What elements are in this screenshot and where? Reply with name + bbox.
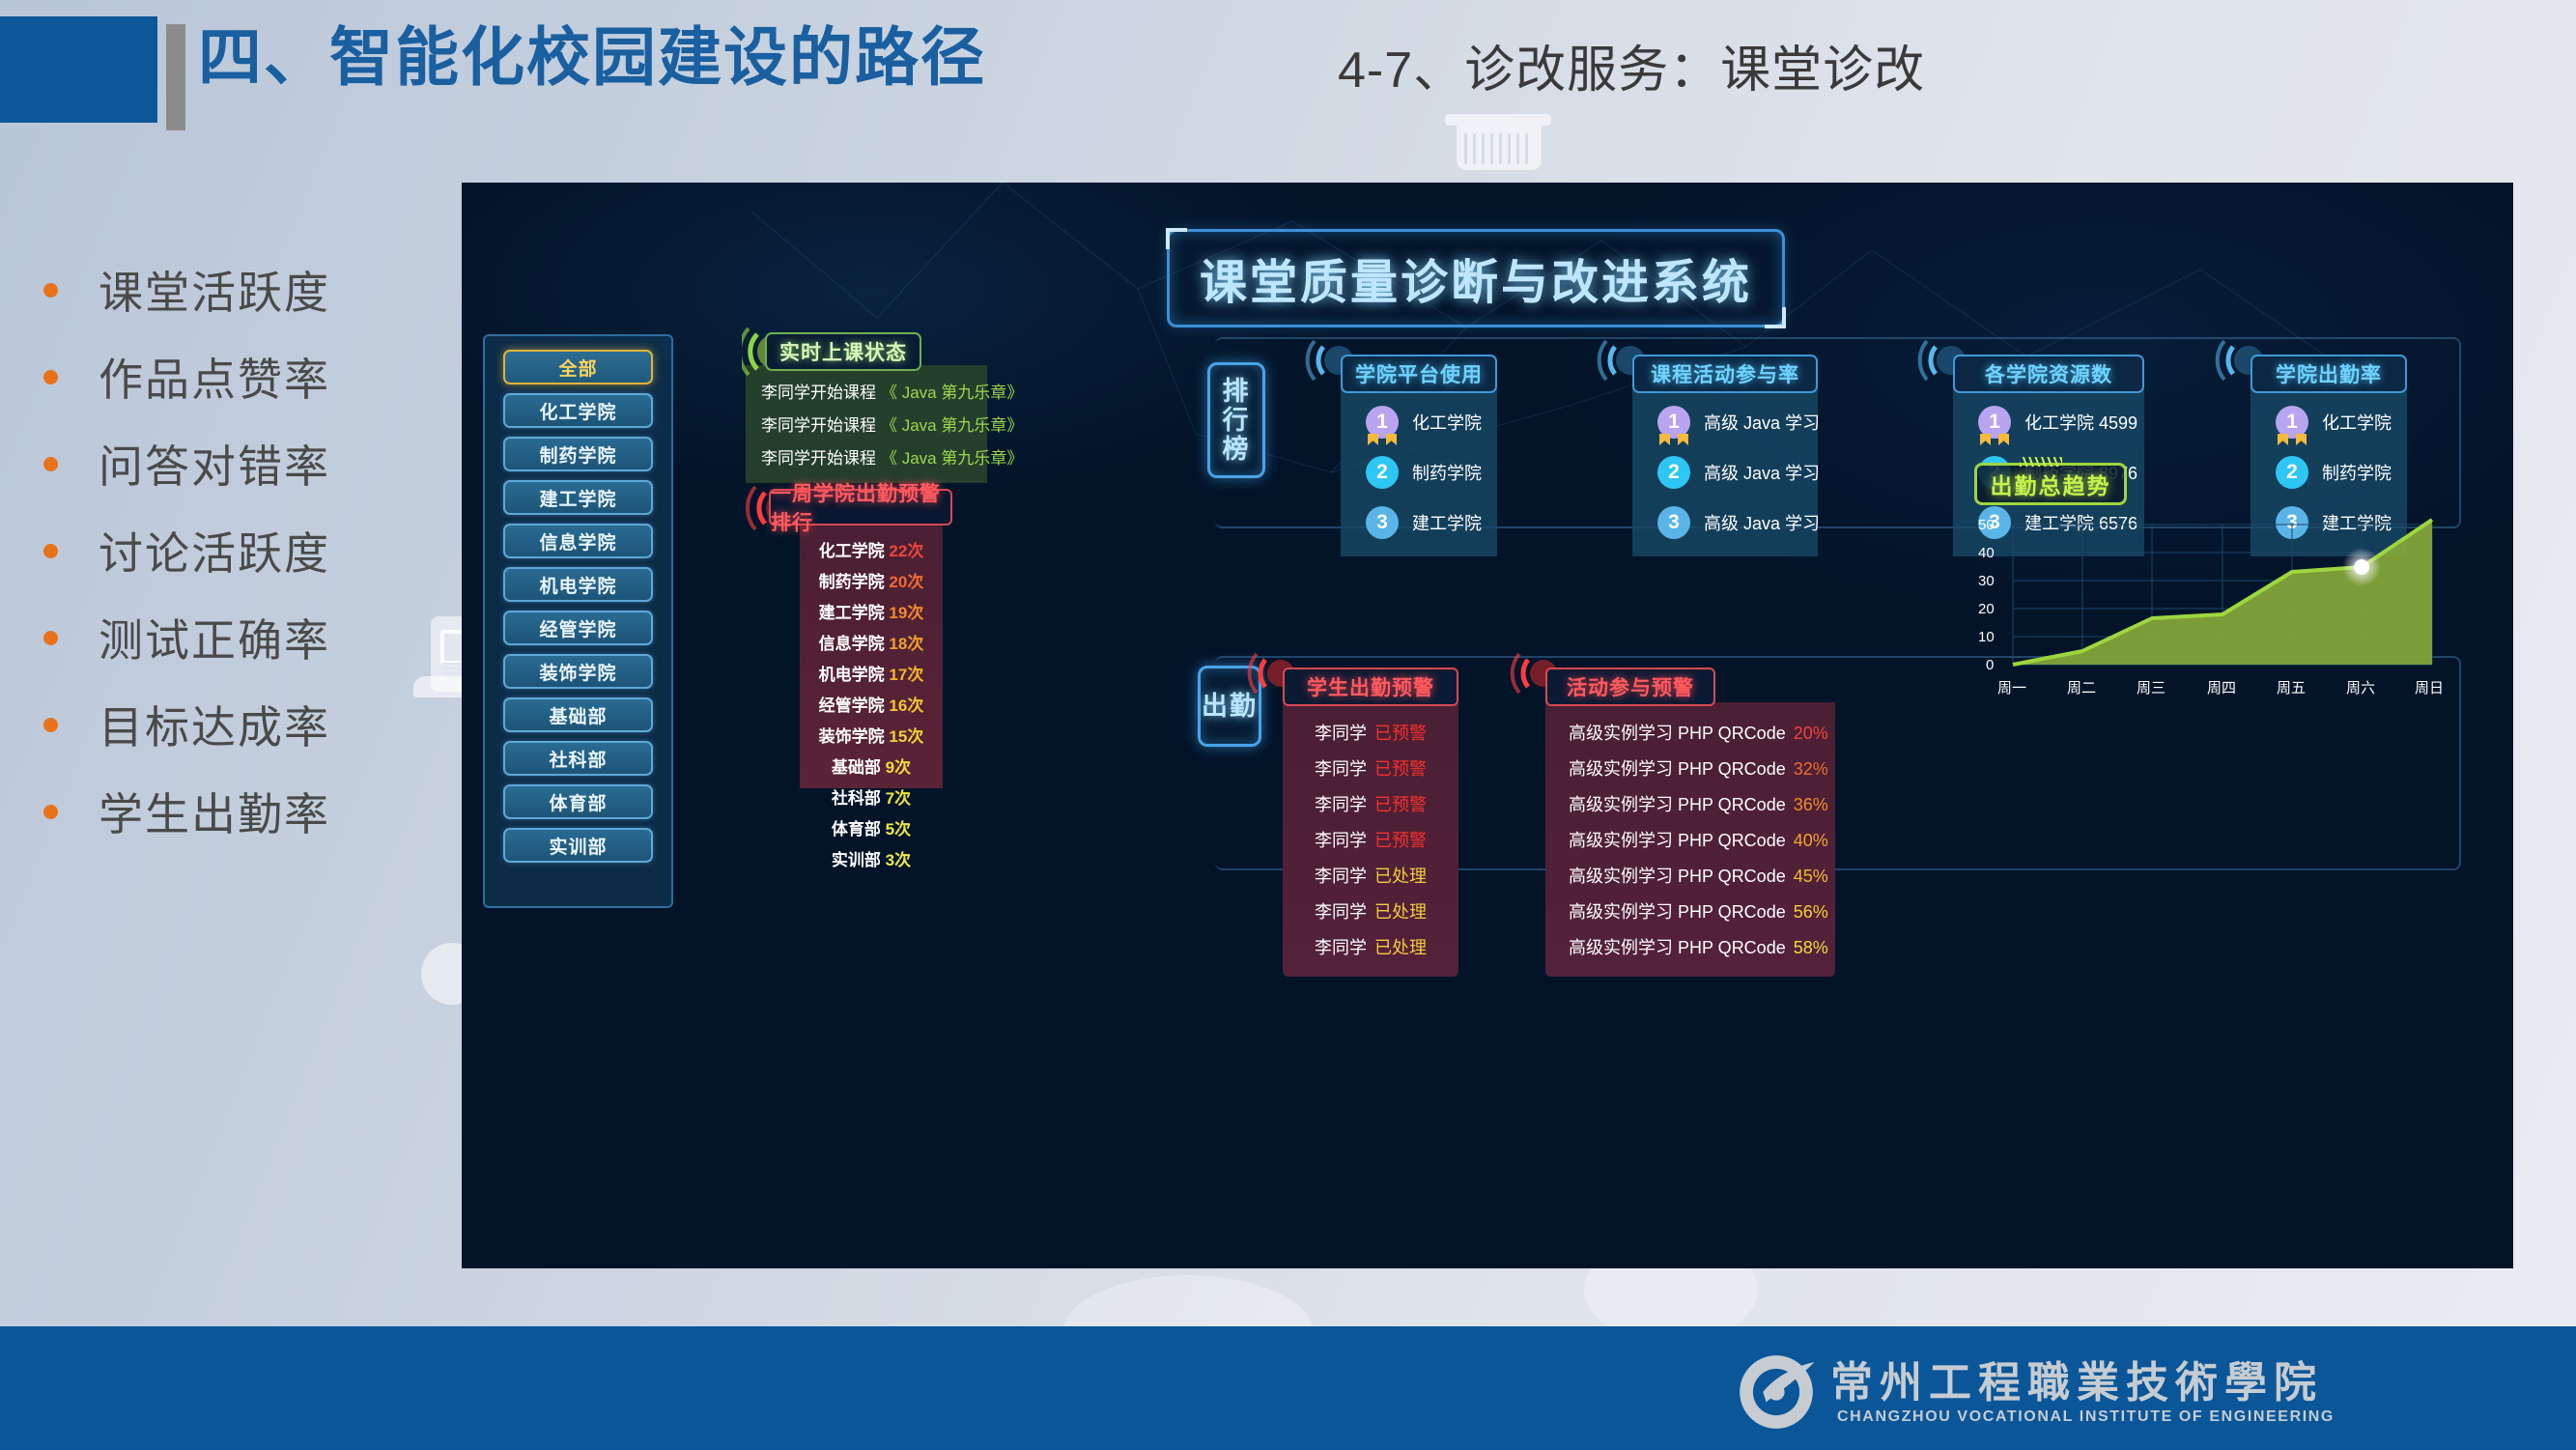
activity-warning-title-label: 活动参与预警 (1567, 672, 1694, 701)
medal-rank-2-icon: 2 (1657, 456, 1690, 489)
list-item: 高级实例学习 PHP QRCode45% (1569, 863, 1835, 888)
y-tick-label: 30 (1978, 573, 1995, 589)
college-name: 基础部 (832, 758, 881, 777)
rank-card-title-label: 各学院资源数 (1985, 359, 2112, 388)
list-item: 高级实例学习 PHP QRCode56% (1569, 898, 1835, 924)
list-item: 学生出勤率 (43, 768, 430, 855)
activity-name: 高级实例学习 PHP QRCode (1569, 831, 1786, 850)
live-row-who: 李同学开始课程 (761, 416, 876, 435)
list-item: 问答对错率 (43, 420, 430, 507)
activity-warning-list: 高级实例学习 PHP QRCode20% 高级实例学习 PHP QRCode32… (1545, 702, 1835, 977)
list-item: 1化工学院 4599 (1953, 406, 2144, 439)
list-item: 体育部 5次 (800, 815, 943, 839)
list-item: 基础部 9次 (800, 753, 943, 778)
participation-percent: 56% (1794, 902, 1828, 922)
activity-name: 高级实例学习 PHP QRCode (1569, 902, 1786, 922)
y-tick-label: 20 (1978, 601, 1995, 617)
status-badge: 已处理 (1374, 867, 1427, 886)
warning-count: 19次 (889, 604, 923, 622)
participation-percent: 36% (1794, 795, 1828, 814)
rank-card-course-activity: 课程活动参与率 1高级 Java 学习 2高级 Java 学习 3高级 Java… (1632, 355, 1818, 556)
status-badge: 已预警 (1374, 831, 1427, 850)
list-item: 2制药学院 (1341, 456, 1497, 489)
rank-label: 高级 Java 学习 (1704, 510, 1820, 535)
list-item: 制药学院 20次 (800, 568, 943, 592)
student-name: 李同学 (1315, 759, 1367, 779)
status-badge: 已预警 (1374, 759, 1427, 779)
header-accent-block (0, 16, 157, 123)
warning-count: 16次 (889, 697, 923, 715)
list-item: 2高级 Java 学习 (1632, 456, 1818, 489)
student-warning-list: 李同学已预警 李同学已预警 李同学已预警 李同学已预警 李同学已处理 李同学已处… (1283, 702, 1458, 977)
list-item: 机电学院 17次 (800, 661, 943, 685)
status-badge: 已处理 (1374, 902, 1427, 922)
sidebar-item-mechatronics[interactable]: 机电学院 (503, 567, 653, 602)
rank-label: 化工学院 (2322, 410, 2392, 435)
college-name: 信息学院 (819, 635, 885, 653)
dashboard-title: 课堂质量诊断与改进系统 (1167, 229, 1785, 327)
participation-percent: 58% (1794, 938, 1828, 957)
sidebar-item-chemical[interactable]: 化工学院 (503, 393, 653, 428)
list-item: 信息学院 18次 (800, 630, 943, 654)
x-tick-label: 周五 (2277, 677, 2306, 697)
weekly-rank-title: 一周学院出勤预警排行 (769, 489, 952, 526)
list-item: 高级实例学习 PHP QRCode36% (1569, 791, 1835, 816)
rank-card-title-label: 学院平台使用 (1355, 359, 1483, 388)
list-item: 李同学已预警 (1283, 827, 1458, 852)
list-item: 李同学已处理 (1283, 898, 1458, 924)
live-row-course: 《 Java 第九乐章》 (881, 384, 1023, 402)
college-name: 机电学院 (819, 666, 885, 684)
activity-participation-warning-card: 活动参与预警 高级实例学习 PHP QRCode20% 高级实例学习 PHP Q… (1545, 668, 1835, 977)
list-item: 建工学院 19次 (800, 599, 943, 623)
watermark-cart-handle (1445, 114, 1551, 126)
medal-rank-3-icon: 3 (1366, 506, 1399, 539)
list-item: 经管学院 16次 (800, 692, 943, 716)
list-item: 高级实例学习 PHP QRCode58% (1569, 934, 1835, 959)
y-tick-label: 0 (1986, 657, 1994, 673)
institute-name-cn: 常州工程職業技術學院 (1830, 1348, 2323, 1409)
bullet-label: 作品点赞率 (99, 345, 330, 409)
rank-number: 1 (1989, 411, 2000, 434)
list-item: 1化工学院 (1341, 406, 1497, 439)
participation-percent: 40% (1794, 831, 1828, 850)
x-tick-label: 周日 (2415, 677, 2444, 697)
rank-label: 高级 Java 学习 (1704, 410, 1820, 435)
warning-count: 7次 (886, 789, 911, 808)
rank-section-badge: 排行榜 (1207, 362, 1265, 478)
participation-percent: 32% (1794, 759, 1828, 779)
weekly-rank-title-label: 一周学院出勤预警排行 (771, 478, 950, 536)
bullet-label: 问答对错率 (99, 432, 330, 496)
weekly-attendance-warning-panel: 一周学院出勤预警排行 化工学院 22次 制药学院 20次 建工学院 19次 信息… (769, 489, 952, 788)
sidebar-item-label: 建工学院 (539, 485, 616, 511)
status-badge: 已预警 (1374, 795, 1427, 814)
status-badge: 已处理 (1374, 938, 1427, 957)
medal-rank-1-icon: 1 (1366, 406, 1399, 439)
rank-number: 3 (1376, 511, 1388, 534)
warning-count: 5次 (886, 820, 911, 839)
rank-card-title: 课程活动参与率 (1632, 355, 1818, 393)
list-item: 目标达成率 (43, 681, 430, 768)
list-item: 装饰学院 15次 (800, 723, 943, 747)
sidebar-item-information[interactable]: 信息学院 (503, 524, 653, 558)
corner-bracket-icon (1166, 228, 1187, 249)
rank-number: 2 (1376, 461, 1388, 484)
sidebar-item-decoration[interactable]: 装饰学院 (503, 654, 653, 689)
medal-rank-2-icon: 2 (1366, 456, 1399, 489)
metrics-bullet-list: 课堂活跃度 作品点赞率 问答对错率 讨论活跃度 测试正确率 目标达成率 学生出勤… (43, 246, 430, 855)
rank-label: 化工学院 (1412, 410, 1482, 435)
college-name: 建工学院 (819, 604, 885, 622)
rank-number: 3 (1668, 511, 1680, 534)
sidebar-item-all[interactable]: 全部 (503, 350, 653, 384)
participation-percent: 20% (1794, 724, 1828, 743)
warning-count: 17次 (889, 666, 923, 684)
student-name: 李同学 (1315, 831, 1367, 850)
warning-count: 15次 (889, 727, 923, 746)
rank-card-title-label: 学院出勤率 (2276, 359, 2382, 388)
x-tick-label: 周二 (2067, 677, 2096, 697)
medal-rank-1-icon: 1 (1657, 406, 1690, 439)
college-name: 体育部 (832, 820, 881, 839)
college-name: 社科部 (832, 789, 881, 808)
page-title: 四、智能化校园建设的路径 (198, 19, 986, 96)
list-item: 李同学已处理 (1283, 934, 1458, 959)
x-tick-label: 周一 (1997, 677, 2026, 697)
student-name: 李同学 (1315, 724, 1367, 743)
sidebar-item-label: 机电学院 (539, 572, 616, 598)
rank-number: 2 (1668, 461, 1680, 484)
list-item: 李同学已预警 (1283, 791, 1458, 816)
rank-label: 制药学院 (1412, 460, 1482, 485)
student-warning-title-label: 学生出勤预警 (1307, 672, 1434, 701)
activity-name: 高级实例学习 PHP QRCode (1569, 795, 1786, 814)
activity-name: 高级实例学习 PHP QRCode (1569, 759, 1786, 779)
header-accent-bar (166, 24, 185, 130)
list-item: 高级实例学习 PHP QRCode32% (1569, 755, 1835, 781)
warning-count: 9次 (886, 758, 911, 777)
list-item: 李同学开始课程《 Java 第九乐章》 (761, 412, 972, 436)
list-item: 李同学已预警 (1283, 720, 1458, 745)
college-name: 装饰学院 (819, 727, 885, 746)
student-name: 李同学 (1315, 867, 1367, 886)
list-item: 课堂活跃度 (43, 246, 430, 333)
rank-number: 1 (1668, 411, 1680, 434)
sidebar-item-label: 装饰学院 (539, 659, 616, 685)
corner-bracket-icon (1765, 307, 1786, 328)
bullet-dot-icon (43, 457, 58, 471)
sidebar-item-label: 基础部 (549, 702, 607, 728)
trend-chart-title: 出勤总趋势 (1974, 463, 2127, 505)
list-item: 3高级 Java 学习 (1632, 506, 1818, 539)
y-tick-label: 40 (1978, 545, 1995, 561)
student-name: 李同学 (1315, 795, 1367, 814)
warning-count: 3次 (886, 851, 911, 869)
x-tick-label: 周三 (2137, 677, 2166, 697)
live-class-status-panel: 实时上课状态 李同学开始课程《 Java 第九乐章》 李同学开始课程《 Java… (746, 332, 987, 483)
list-item: 李同学已处理 (1283, 863, 1458, 888)
live-status-title: 实时上课状态 (765, 332, 921, 371)
page-subtitle: 4-7、诊改服务：课堂诊改 (1338, 29, 1925, 101)
rank-label: 建工学院 (1412, 510, 1482, 535)
list-item: 李同学已预警 (1283, 755, 1458, 781)
attendance-trend-chart: 出勤总趋势 (1974, 463, 2477, 704)
rank-card-body: 1高级 Java 学习 2高级 Java 学习 3高级 Java 学习 (1632, 388, 1818, 556)
bullet-dot-icon (43, 805, 58, 819)
watermark-cart-icon (1457, 126, 1542, 170)
rank-label: 高级 Java 学习 (1704, 460, 1820, 485)
bullet-label: 测试正确率 (99, 606, 330, 669)
x-tick-label: 周六 (2346, 677, 2375, 697)
activity-name: 高级实例学习 PHP QRCode (1569, 867, 1786, 886)
y-tick-label: 50 (1978, 517, 1995, 533)
medal-rank-1-icon: 1 (2276, 406, 2308, 439)
activity-name: 高级实例学习 PHP QRCode (1569, 724, 1786, 743)
sidebar-item-social-science[interactable]: 社科部 (503, 741, 653, 776)
trend-chart-title-label: 出勤总趋势 (1991, 468, 2111, 500)
sidebar-item-training[interactable]: 实训部 (503, 828, 653, 863)
sidebar-item-label: 实训部 (549, 833, 607, 859)
list-item: 社科部 7次 (800, 784, 943, 809)
live-row-course: 《 Java 第九乐章》 (881, 449, 1023, 468)
sidebar-item-pharmacy[interactable]: 制药学院 (503, 437, 653, 471)
status-badge: 已预警 (1374, 724, 1427, 743)
list-item: 讨论活跃度 (43, 507, 430, 594)
activity-name: 高级实例学习 PHP QRCode (1569, 938, 1786, 957)
y-tick-label: 10 (1978, 629, 1995, 645)
dashboard-title-label: 课堂质量诊断与改进系统 (1200, 244, 1752, 313)
participation-percent: 45% (1794, 867, 1828, 886)
list-item: 高级实例学习 PHP QRCode20% (1569, 720, 1835, 745)
sidebar-item-construction[interactable]: 建工学院 (503, 480, 653, 515)
college-filter-sidebar[interactable]: 全部 化工学院 制药学院 建工学院 信息学院 机电学院 经管学院 装饰学院 基础… (483, 334, 673, 908)
bullet-label: 学生出勤率 (99, 780, 330, 843)
chart-highlight-point (2354, 559, 2369, 575)
live-status-title-label: 实时上课状态 (779, 337, 907, 366)
college-name: 实训部 (832, 851, 881, 869)
student-name: 李同学 (1315, 938, 1367, 957)
sidebar-item-foundation[interactable]: 基础部 (503, 697, 653, 732)
college-name: 化工学院 (819, 542, 885, 560)
rank-card-title: 学院出勤率 (2250, 355, 2407, 393)
bullet-dot-icon (43, 631, 58, 645)
list-item: 李同学开始课程《 Java 第九乐章》 (761, 444, 972, 469)
sidebar-item-economics[interactable]: 经管学院 (503, 611, 653, 645)
rank-label: 化工学院 4599 (2024, 410, 2137, 435)
medal-rank-1-icon: 1 (1978, 406, 2011, 439)
rank-section-badge-label: 排行榜 (1210, 377, 1262, 465)
list-item: 化工学院 22次 (800, 537, 943, 561)
bullet-dot-icon (43, 544, 58, 558)
list-item: 1高级 Java 学习 (1632, 406, 1818, 439)
rank-card-platform-usage: 学院平台使用 1化工学院 2制药学院 3建工学院 (1341, 355, 1497, 556)
sidebar-item-label: 社科部 (549, 746, 607, 772)
list-item: 1化工学院 (2250, 406, 2407, 439)
sidebar-item-label: 制药学院 (539, 441, 616, 468)
student-warning-title: 学生出勤预警 (1283, 668, 1458, 706)
college-name: 经管学院 (819, 697, 885, 715)
sidebar-item-label: 信息学院 (539, 528, 616, 554)
sidebar-item-label: 化工学院 (539, 398, 616, 424)
list-item: 作品点赞率 (43, 333, 430, 420)
college-name: 制药学院 (819, 573, 885, 591)
weekly-rank-list: 化工学院 22次 制药学院 20次 建工学院 19次 信息学院 18次 机电学院… (800, 522, 943, 788)
institute-name-en: CHANGZHOU VOCATIONAL INSTITUTE OF ENGINE… (1837, 1408, 2335, 1426)
sidebar-item-label: 经管学院 (539, 615, 616, 641)
bullet-label: 目标达成率 (99, 693, 330, 756)
rank-card-title: 各学院资源数 (1953, 355, 2144, 393)
rank-card-title-label: 课程活动参与率 (1651, 359, 1799, 388)
medal-rank-3-icon: 3 (1657, 506, 1690, 539)
list-item: 实训部 3次 (800, 846, 943, 870)
warning-count: 22次 (889, 542, 923, 560)
student-attendance-warning-card: 学生出勤预警 李同学已预警 李同学已预警 李同学已预警 李同学已预警 李同学已处… (1283, 668, 1458, 977)
warning-count: 20次 (889, 573, 923, 591)
institute-logo-icon (1734, 1350, 1819, 1434)
trend-chart-svg (1978, 515, 2451, 704)
warning-count: 18次 (889, 635, 923, 653)
rank-number: 1 (2286, 411, 2298, 434)
bullet-dot-icon (43, 370, 58, 384)
bullet-dot-icon (43, 283, 58, 298)
sidebar-item-label: 体育部 (549, 789, 607, 815)
activity-warning-title: 活动参与预警 (1545, 668, 1715, 706)
list-item: 高级实例学习 PHP QRCode40% (1569, 827, 1835, 852)
sidebar-item-label: 全部 (558, 355, 597, 381)
list-item: 3建工学院 (1341, 506, 1497, 539)
dashboard-panel: 课堂质量诊断与改进系统 全部 化工学院 制药学院 建工学院 信息学院 机电学院 … (462, 183, 2513, 1268)
bullet-label: 课堂活跃度 (99, 258, 330, 322)
student-name: 李同学 (1315, 902, 1367, 922)
hatch-decoration-icon (2020, 457, 2062, 467)
x-tick-label: 周四 (2207, 677, 2236, 697)
rank-number: 1 (1376, 411, 1388, 434)
live-row-who: 李同学开始课程 (761, 449, 876, 468)
live-row-course: 《 Java 第九乐章》 (881, 416, 1023, 435)
bullet-label: 讨论活跃度 (99, 519, 330, 583)
bullet-dot-icon (43, 718, 58, 732)
rank-card-title: 学院平台使用 (1341, 355, 1497, 393)
rank-card-body: 1化工学院 2制药学院 3建工学院 (1341, 388, 1497, 556)
sidebar-item-physical-education[interactable]: 体育部 (503, 784, 653, 819)
list-item: 测试正确率 (43, 594, 430, 681)
